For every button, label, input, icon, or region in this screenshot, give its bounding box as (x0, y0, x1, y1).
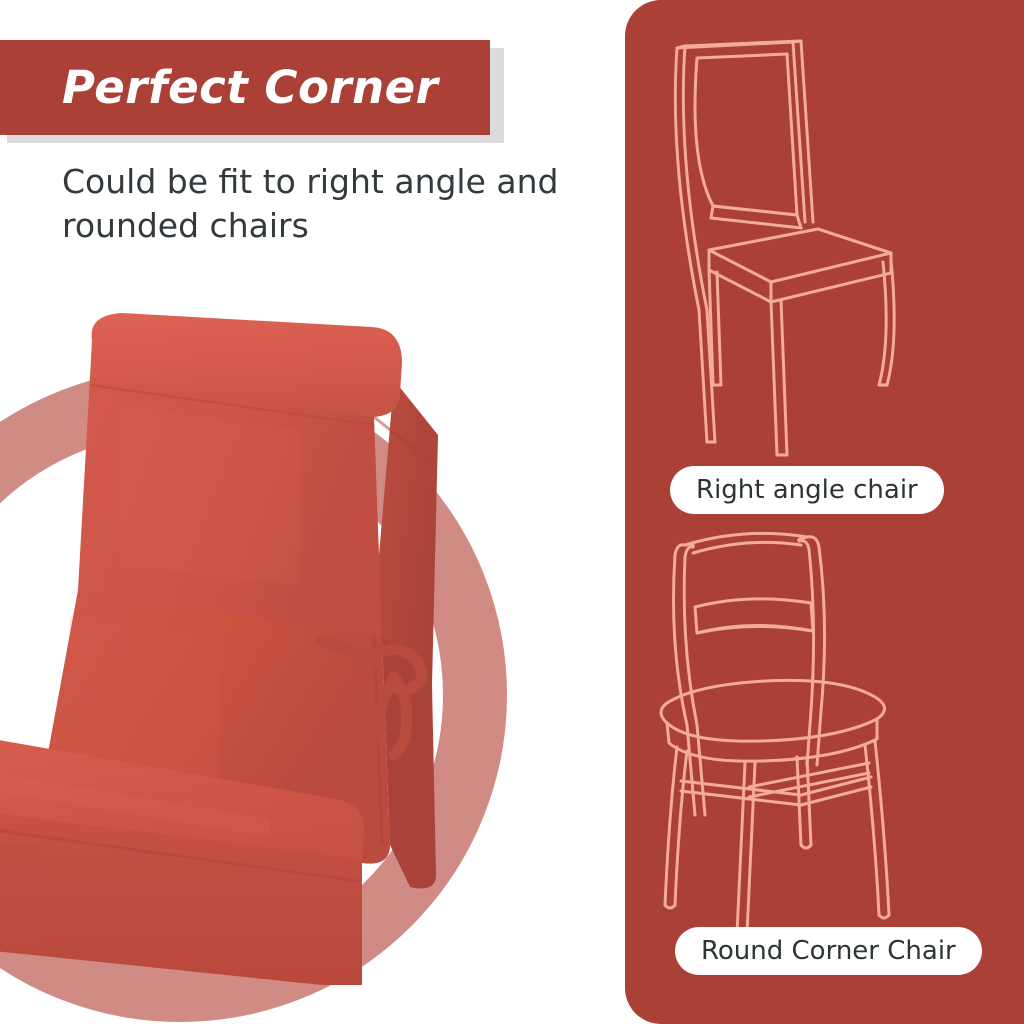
chair-label-round-corner[interactable]: Round Corner Chair (675, 927, 982, 975)
chair-label-right-angle[interactable]: Right angle chair (670, 466, 944, 514)
product-photo-chair-cushion (0, 285, 460, 985)
chair-types-panel: Right angle chair (625, 0, 1024, 1024)
title-banner-fill: Perfect Corner (0, 40, 490, 135)
page-subtitle: Could be fit to right angle and rounded … (62, 160, 607, 247)
page-title: Perfect Corner (0, 61, 438, 114)
left-content-column: Perfect Corner Could be fit to right ang… (0, 0, 625, 1024)
right-angle-chair-line-drawing (625, 10, 1024, 460)
title-banner: Perfect Corner (0, 40, 497, 135)
chair-label-text: Round Corner Chair (701, 936, 956, 966)
chair-label-text: Right angle chair (696, 475, 918, 505)
round-corner-chair-line-drawing (625, 515, 1024, 935)
